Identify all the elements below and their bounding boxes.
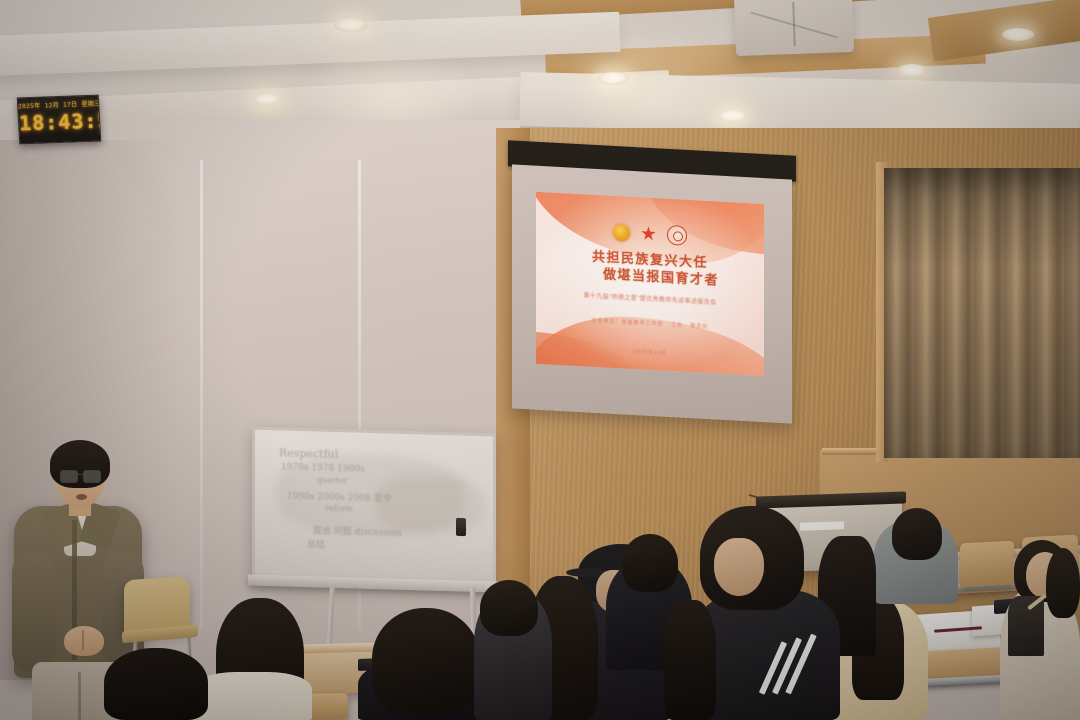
whiteboard-line: 提出 问题 discussion <box>313 523 402 538</box>
student-adidas-face <box>714 538 764 596</box>
presenter-finger-line <box>82 630 84 650</box>
clock-time-text: 18:43:56 <box>18 109 99 136</box>
whiteboard-marker-icon <box>456 518 466 536</box>
glasses-icon <box>60 470 101 481</box>
national-emblem-icon <box>613 223 630 241</box>
presenter-trouser-seam <box>78 672 81 720</box>
presenter-mouth <box>76 494 87 500</box>
presentation-slide: 共担民族复兴大任 做堪当报国育才者 第十九届"师德之星"暨优秀教师先进事迹报告会… <box>536 192 764 376</box>
student-black-coat-hair <box>372 608 480 714</box>
whiteboard-line: 总结 <box>307 537 325 551</box>
wall-seam <box>200 160 203 630</box>
student-black-jacket-hair <box>622 534 678 592</box>
mobile-whiteboard: Respectful 1970s 1978 1980s quarter 1990… <box>252 427 496 592</box>
student-front-head <box>104 648 208 720</box>
whiteboard-line: quarter <box>317 475 348 485</box>
downlight-icon <box>334 18 368 32</box>
wall-digital-clock: 2025年 12月 17日 星期三 18:43:56 <box>17 95 102 145</box>
whiteboard-line: Respectful <box>279 446 338 461</box>
whiteboard-line: reform <box>325 504 353 514</box>
lecture-hall-photo: 2025年 12月 17日 星期三 18:43:56 共担民族复兴大任 做堪当报… <box>0 0 1080 720</box>
student-glasses-hair <box>1046 548 1080 618</box>
university-seal-icon <box>667 225 687 246</box>
presenter-hands <box>64 626 104 656</box>
student-grey-coat-hair <box>892 508 942 560</box>
downlight-icon <box>718 110 747 122</box>
downlight-icon <box>897 64 927 77</box>
seat-back <box>960 541 1014 588</box>
presenter-arm <box>12 552 56 672</box>
downlight-icon <box>1002 28 1034 41</box>
screen-surface: 共担民族复兴大任 做堪当报国育才者 第十九届"师德之星"暨优秀教师先进事迹报告会… <box>512 164 792 423</box>
student-between-heads <box>664 600 716 720</box>
student-note-taker-shoulder <box>1008 596 1044 656</box>
student-cream-coat <box>192 672 312 720</box>
youth-league-star-icon <box>640 225 657 243</box>
air-diffuser-vent-icon <box>734 0 854 56</box>
av-console-label <box>800 521 844 531</box>
downlight-icon <box>598 72 629 85</box>
projection-screen: 共担民族复兴大任 做堪当报国育才者 第十九届"师德之星"暨优秀教师先进事迹报告会… <box>508 140 796 426</box>
downlight-icon <box>253 94 281 105</box>
curtain-shading <box>884 168 1080 458</box>
student-side-dark-hair <box>480 580 538 636</box>
